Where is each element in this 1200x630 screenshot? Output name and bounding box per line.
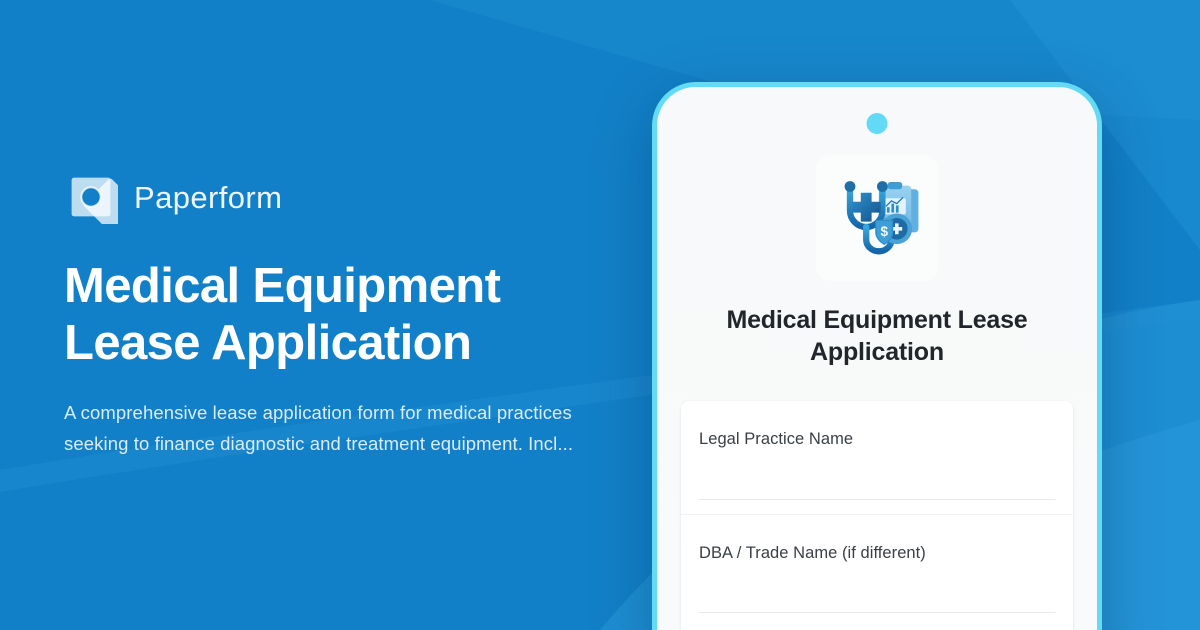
hero-content: Paperform Medical Equipment Lease Applic…: [64, 0, 604, 630]
svg-text:$: $: [880, 224, 888, 239]
page-description: A comprehensive lease application form f…: [64, 398, 584, 459]
field-underline: [699, 612, 1055, 613]
field-label: Legal Practice Name: [699, 429, 1055, 450]
camera-dot-icon: [867, 113, 888, 134]
paperform-logo-icon: [64, 170, 118, 224]
phone-mockup: $ Medical Equipment Lease Application Le…: [652, 82, 1102, 630]
field-label: DBA / Trade Name (if different): [699, 543, 1055, 564]
brand-lockup: Paperform: [64, 170, 604, 224]
brand-name: Paperform: [134, 182, 282, 213]
form-title: Medical Equipment Lease Application: [681, 305, 1073, 368]
form-field-legal-practice-name[interactable]: Legal Practice Name: [681, 401, 1073, 514]
phone-screen: $ Medical Equipment Lease Application Le…: [657, 87, 1097, 630]
field-underline: [699, 499, 1055, 500]
form-field-dba-trade-name[interactable]: DBA / Trade Name (if different): [681, 514, 1073, 627]
form-icon-container: $: [816, 155, 938, 281]
medical-stethoscope-clipboard-icon: $: [823, 164, 931, 272]
form-card: Legal Practice Name DBA / Trade Name (if…: [681, 401, 1073, 630]
page-title: Medical Equipment Lease Application: [64, 258, 564, 372]
